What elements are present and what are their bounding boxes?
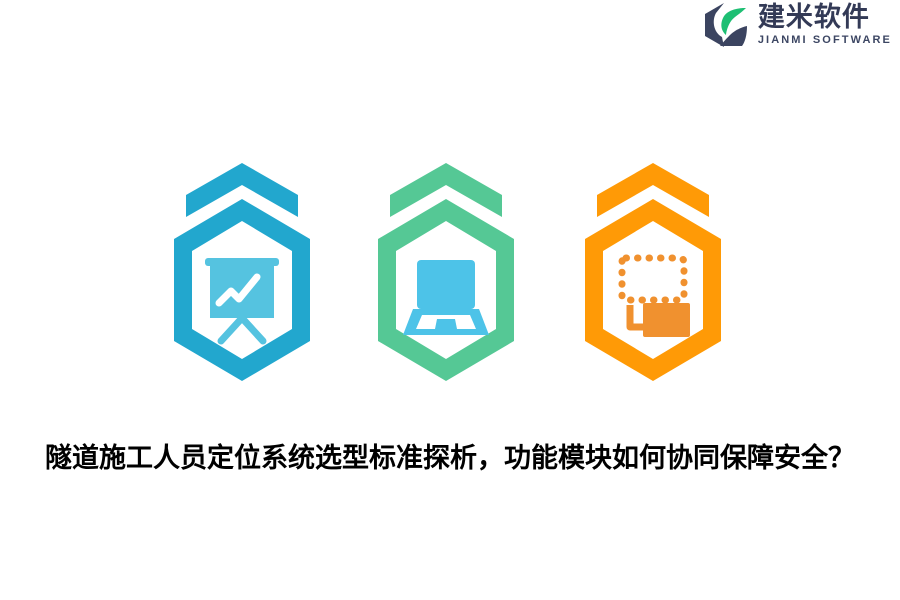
hexagon-badge-green [351,155,541,390]
feature-icon-laptop-terminal [351,155,541,390]
presentation-chart-icon [205,258,279,341]
feature-icon-selection-module [558,155,748,390]
brand-logo: 建米软件 JIANMI SOFTWARE [702,2,892,48]
laptop-icon [403,260,489,335]
hexagon-badge-blue [147,155,337,390]
brand-name-cn: 建米软件 [758,4,870,31]
feature-icon-row [0,155,900,390]
jianmi-leaf-logo-icon [702,2,750,48]
feature-icon-analytics-board [147,155,337,390]
marquee-selection-icon [622,258,690,337]
hexagon-badge-orange [558,155,748,390]
brand-name-en: JIANMI SOFTWARE [758,35,892,46]
brand-text-block: 建米软件 JIANMI SOFTWARE [758,4,892,46]
page-title: 隧道施工人员定位系统选型标准探析，功能模块如何协同保障安全？ [0,436,900,475]
hexagon-outline-icon [585,199,721,381]
